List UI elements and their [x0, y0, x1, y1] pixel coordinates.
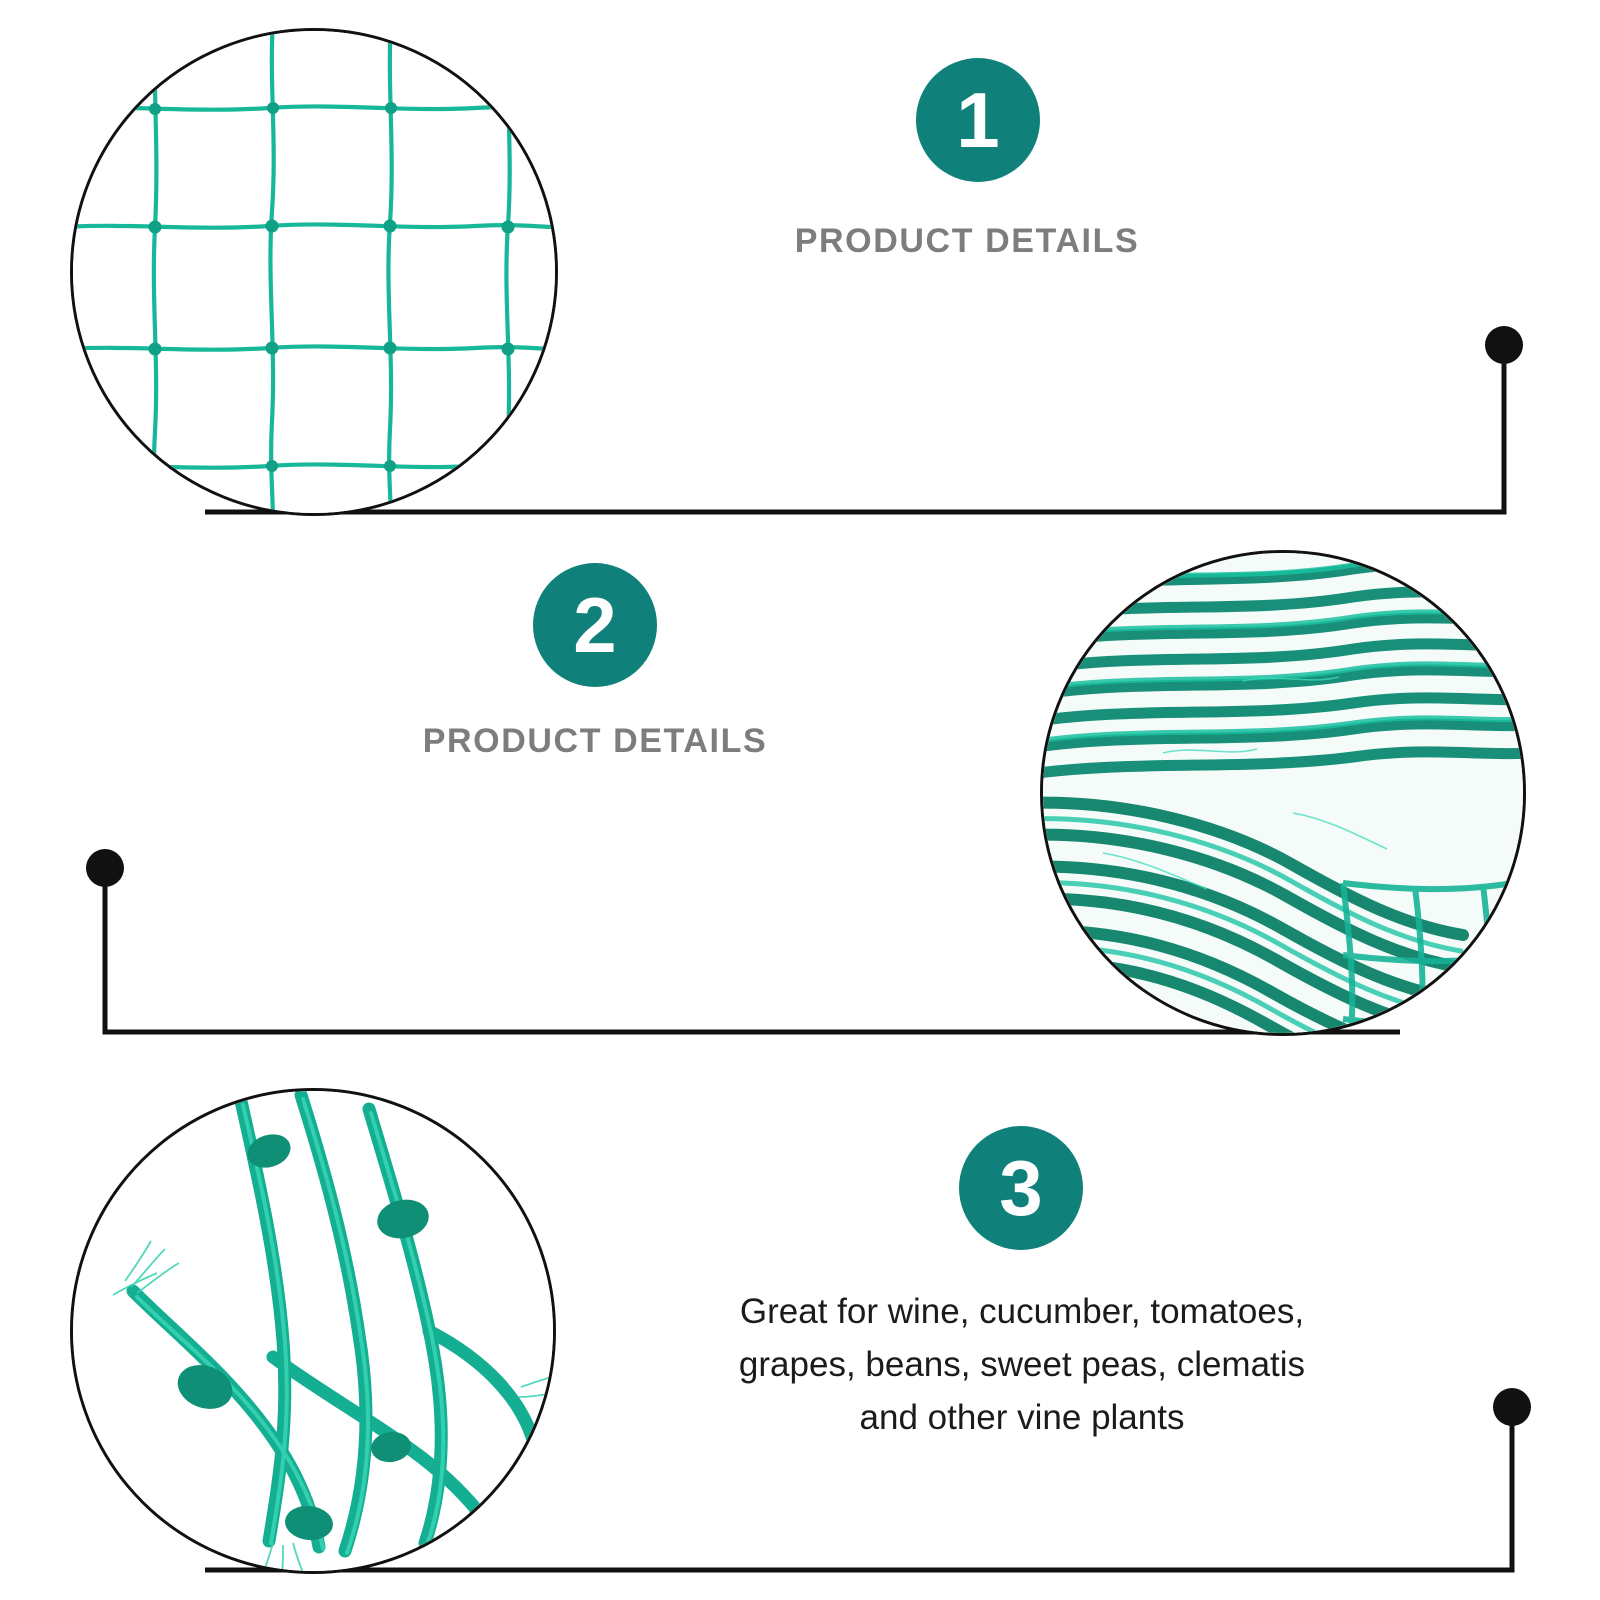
step-caption-1: PRODUCT DETAILS — [667, 222, 1267, 261]
cord-bundle-illustration — [1043, 553, 1523, 1033]
knotted-loops-illustration — [73, 1091, 553, 1571]
step-caption-3-line-3: and other vine plants — [690, 1391, 1354, 1444]
step-caption-2: PRODUCT DETAILS — [295, 722, 895, 761]
step-badge-1-number: 1 — [956, 81, 999, 159]
infographic-page: 1 PRODUCT DETAILS 2 PRODUCT DETAILS 3 Gr… — [0, 0, 1600, 1600]
step-caption-3-line-2: grapes, beans, sweet peas, clematis — [690, 1338, 1354, 1391]
step-badge-3: 3 — [959, 1126, 1083, 1250]
connector-dot-1 — [1485, 326, 1523, 364]
net-mesh-illustration — [73, 31, 555, 513]
step-badge-2-number: 2 — [573, 586, 616, 664]
bundled-nylon-cords-closeup — [1043, 553, 1523, 1033]
trellis-net-mesh-closeup — [73, 31, 555, 513]
product-photo-circle-1 — [70, 28, 558, 516]
connector-dot-3 — [1493, 1388, 1531, 1426]
step-caption-3-line-1: Great for wine, cucumber, tomatoes, — [690, 1285, 1354, 1338]
knotted-cord-loops-closeup — [73, 1091, 553, 1571]
step-badge-1: 1 — [916, 58, 1040, 182]
step-caption-3: Great for wine, cucumber, tomatoes, grap… — [690, 1285, 1354, 1445]
product-photo-circle-2 — [1040, 550, 1526, 1036]
step-badge-2: 2 — [533, 563, 657, 687]
step-badge-3-number: 3 — [999, 1149, 1042, 1227]
connector-dot-2 — [86, 849, 124, 887]
product-photo-circle-3 — [70, 1088, 556, 1574]
